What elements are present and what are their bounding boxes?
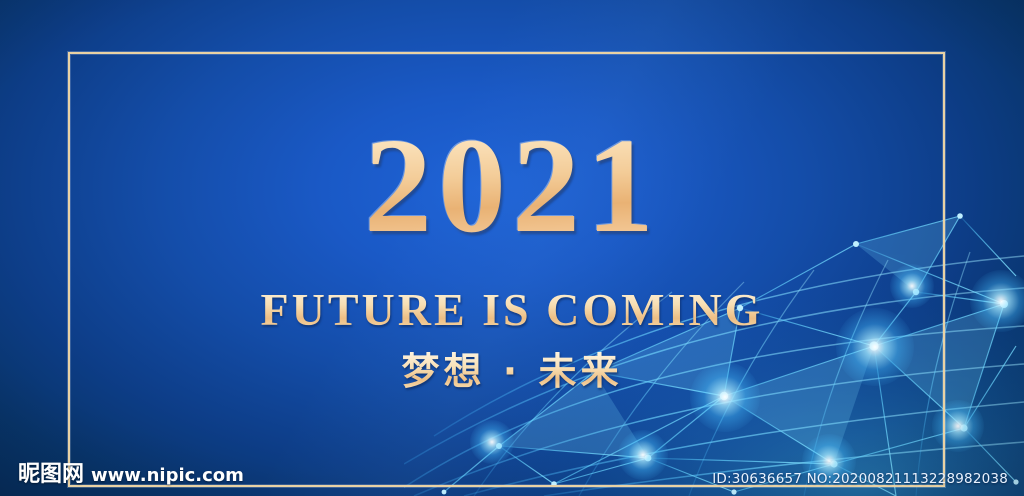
year-title: 2021 <box>0 118 1024 254</box>
asset-id-code: ID:30636657 NO:20200821113228982038 <box>712 471 1008 487</box>
subtitle-text: 梦想 · 未来 <box>0 352 1024 390</box>
watermark: 昵图网 www.nipic.com <box>18 456 244 488</box>
watermark-url: www.nipic.com <box>91 465 244 486</box>
watermark-logo: 昵图网 <box>18 456 84 488</box>
poster-canvas: 2021 FUTURE IS COMING 梦想 · 未来 昵图网 www.ni… <box>0 0 1024 496</box>
tagline-text: FUTURE IS COMING <box>0 287 1024 333</box>
